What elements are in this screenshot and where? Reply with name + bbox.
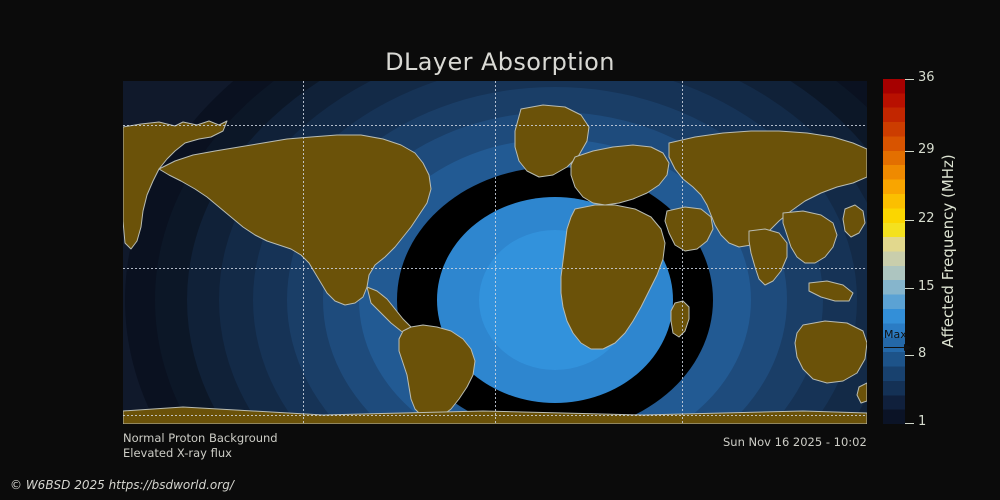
colorbar-tick-label: 15	[918, 279, 935, 294]
grid-longitude-east	[682, 81, 683, 424]
colorbar-tick-mark	[905, 79, 914, 80]
colorbar-tick-label: 36	[918, 70, 935, 85]
grid-longitude-west	[303, 81, 304, 424]
colorbar-max-marker: Max	[883, 328, 923, 354]
copyright-footer: © W6BSD 2025 https://bsdworld.org/	[10, 478, 234, 492]
grid-longitude-center	[495, 81, 496, 424]
colorbar-tick-mark	[905, 355, 914, 356]
colorbar-max-label: Max	[884, 328, 907, 341]
annotation-xray-flux: Elevated X-ray flux	[123, 446, 232, 460]
colorbar-tick-mark	[905, 220, 914, 221]
timestamp: Sun Nov 16 2025 - 10:02	[723, 435, 867, 449]
colorbar-tick-mark	[905, 288, 914, 289]
colorbar	[883, 79, 905, 424]
page-title: DLayer Absorption	[0, 48, 1000, 76]
page-root: DLayer Absorption	[0, 0, 1000, 500]
world-map	[123, 81, 867, 424]
colorbar-tick-mark	[905, 151, 914, 152]
colorbar-gradient	[883, 79, 905, 424]
colorbar-tick-mark	[905, 423, 914, 424]
colorbar-tick-label: 1	[918, 414, 926, 429]
arrow-right-icon	[884, 343, 912, 352]
colorbar-axis-label: Affected Frequency (MHz)	[938, 78, 958, 424]
colorbar-tick-label: 22	[918, 211, 935, 226]
colorbar-tick-label: 29	[918, 142, 935, 157]
annotation-proton-background: Normal Proton Background	[123, 431, 278, 445]
